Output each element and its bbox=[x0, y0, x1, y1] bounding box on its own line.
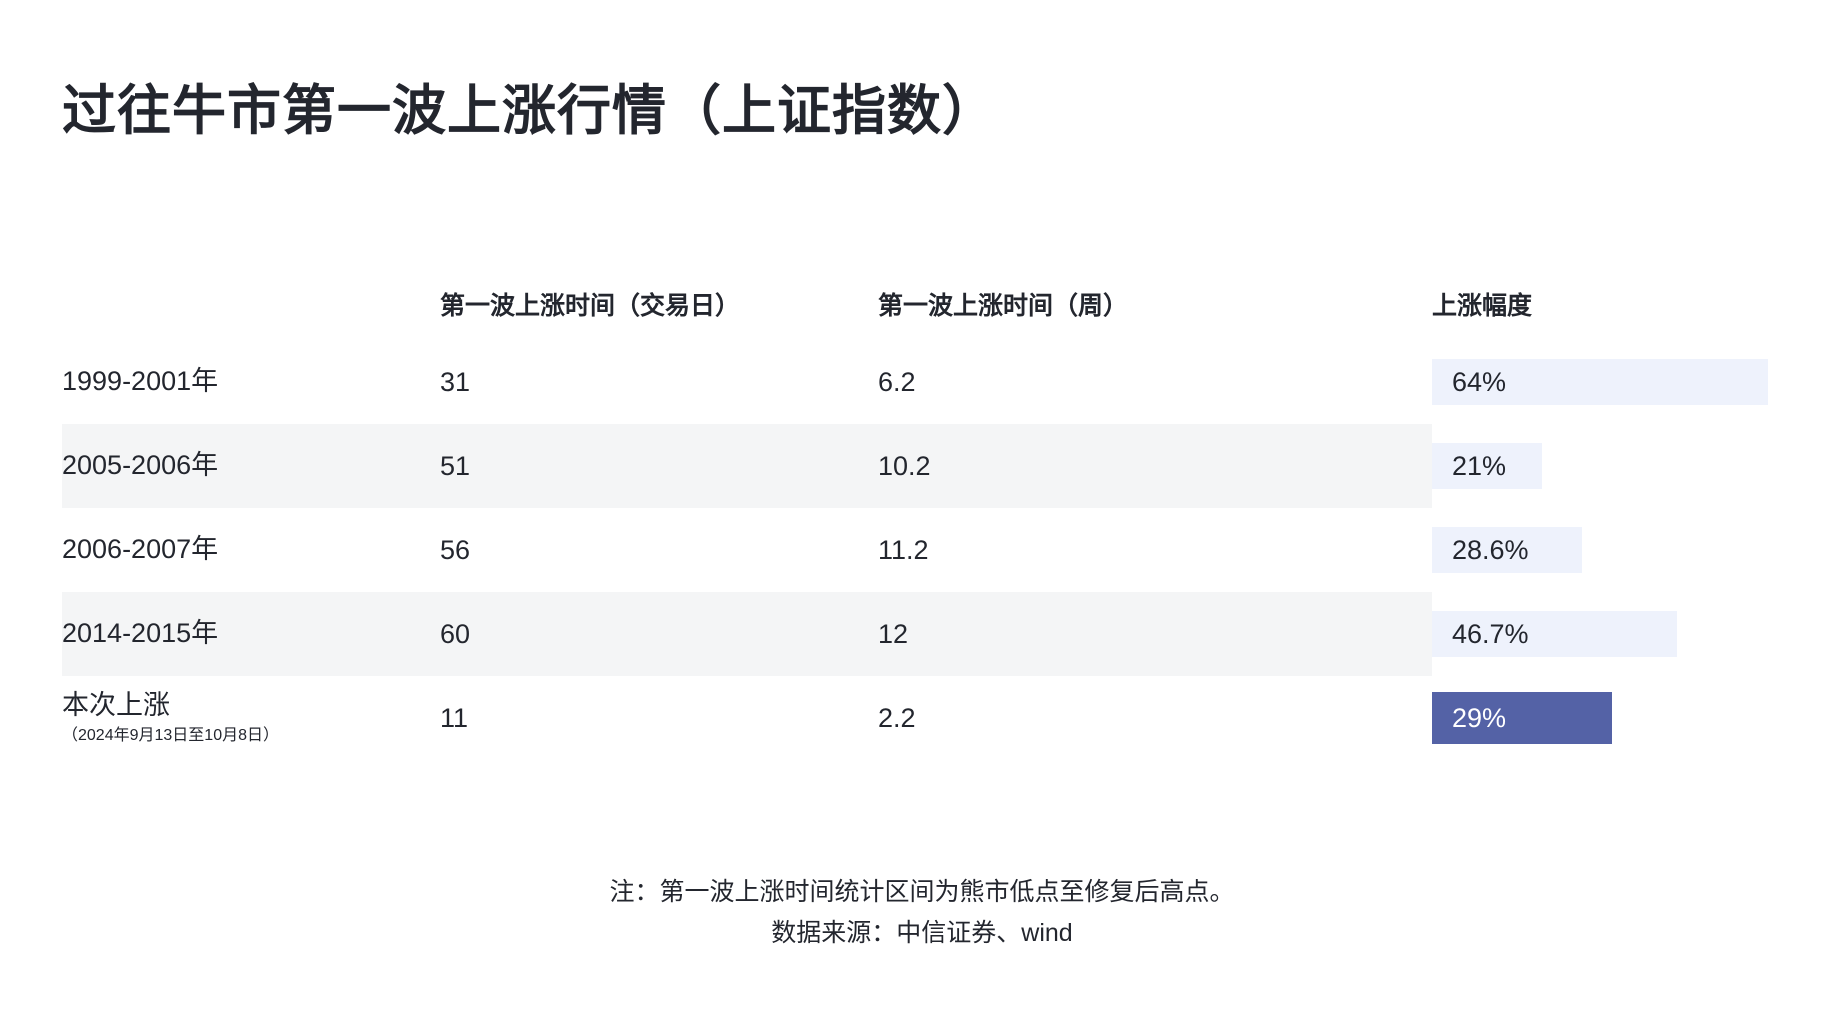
cell-days: 31 bbox=[440, 340, 860, 424]
page-title: 过往牛市第一波上涨行情（上证指数） bbox=[62, 78, 997, 146]
gain-value: 64% bbox=[1452, 367, 1506, 398]
cell-gain: 21% bbox=[1432, 424, 1832, 508]
footnote-source: 数据来源：中信证券、wind bbox=[0, 913, 1844, 954]
cell-period: 2014-2015年 bbox=[62, 592, 432, 676]
gain-value: 46.7% bbox=[1452, 619, 1529, 650]
cell-gain: 28.6% bbox=[1432, 508, 1832, 592]
period-sublabel: （2024年9月13日至10月8日） bbox=[62, 726, 279, 745]
gain-bar: 28.6% bbox=[1432, 527, 1582, 573]
header-weeks: 第一波上涨时间（周） bbox=[878, 268, 1398, 340]
cell-period: 本次上涨（2024年9月13日至10月8日） bbox=[62, 676, 432, 760]
table-row: 1999-2001年316.264% bbox=[0, 340, 1844, 424]
header-days-label: 第一波上涨时间（交易日） bbox=[440, 286, 740, 322]
gain-value: 28.6% bbox=[1452, 535, 1529, 566]
table-row: 2005-2006年5110.221% bbox=[0, 424, 1844, 508]
cell-period: 1999-2001年 bbox=[62, 340, 432, 424]
cell-period: 2005-2006年 bbox=[62, 424, 432, 508]
footnote-method: 注：第一波上涨时间统计区间为熊市低点至修复后高点。 bbox=[0, 872, 1844, 913]
weeks-value: 6.2 bbox=[878, 367, 916, 398]
cell-period: 2006-2007年 bbox=[62, 508, 432, 592]
comparison-table: 第一波上涨时间（交易日） 第一波上涨时间（周） 上涨幅度 1999-2001年3… bbox=[0, 268, 1844, 760]
period-label: 1999-2001年 bbox=[62, 366, 218, 398]
weeks-value: 11.2 bbox=[878, 535, 929, 566]
days-value: 31 bbox=[440, 367, 470, 398]
header-gain: 上涨幅度 bbox=[1432, 268, 1832, 340]
days-value: 56 bbox=[440, 535, 470, 566]
weeks-value: 10.2 bbox=[878, 451, 931, 482]
days-value: 11 bbox=[440, 703, 468, 734]
period-label: 本次上涨 bbox=[62, 690, 170, 722]
weeks-value: 2.2 bbox=[878, 703, 916, 734]
cell-days: 60 bbox=[440, 592, 860, 676]
cell-days: 11 bbox=[440, 676, 860, 760]
gain-value: 21% bbox=[1452, 451, 1506, 482]
period-label: 2005-2006年 bbox=[62, 450, 218, 482]
cell-weeks: 12 bbox=[878, 592, 1398, 676]
table-row: 2014-2015年601246.7% bbox=[0, 592, 1844, 676]
gain-bar: 46.7% bbox=[1432, 611, 1677, 657]
gain-bar: 21% bbox=[1432, 443, 1542, 489]
header-gain-label: 上涨幅度 bbox=[1432, 286, 1532, 322]
period-label: 2014-2015年 bbox=[62, 618, 218, 650]
cell-weeks: 11.2 bbox=[878, 508, 1398, 592]
gain-bar-highlight: 29% bbox=[1432, 692, 1612, 744]
cell-gain: 64% bbox=[1432, 340, 1832, 424]
cell-weeks: 2.2 bbox=[878, 676, 1398, 760]
table-row: 2006-2007年5611.228.6% bbox=[0, 508, 1844, 592]
cell-gain: 29% bbox=[1432, 676, 1832, 760]
cell-weeks: 10.2 bbox=[878, 424, 1398, 508]
header-period bbox=[62, 268, 432, 340]
table-row: 本次上涨（2024年9月13日至10月8日）112.229% bbox=[0, 676, 1844, 760]
days-value: 51 bbox=[440, 451, 470, 482]
table-body: 1999-2001年316.264%2005-2006年5110.221%200… bbox=[0, 340, 1844, 760]
infographic-page: 过往牛市第一波上涨行情（上证指数） 第一波上涨时间（交易日） 第一波上涨时间（周… bbox=[0, 0, 1844, 1028]
footnotes: 注：第一波上涨时间统计区间为熊市低点至修复后高点。 数据来源：中信证券、wind bbox=[0, 872, 1844, 955]
weeks-value: 12 bbox=[878, 619, 908, 650]
table-header-row: 第一波上涨时间（交易日） 第一波上涨时间（周） 上涨幅度 bbox=[0, 268, 1844, 340]
cell-weeks: 6.2 bbox=[878, 340, 1398, 424]
header-days: 第一波上涨时间（交易日） bbox=[440, 268, 860, 340]
period-label: 2006-2007年 bbox=[62, 534, 218, 566]
cell-days: 56 bbox=[440, 508, 860, 592]
gain-value: 29% bbox=[1452, 703, 1506, 734]
cell-gain: 46.7% bbox=[1432, 592, 1832, 676]
cell-days: 51 bbox=[440, 424, 860, 508]
days-value: 60 bbox=[440, 619, 470, 650]
gain-bar: 64% bbox=[1432, 359, 1768, 405]
header-weeks-label: 第一波上涨时间（周） bbox=[878, 286, 1128, 322]
